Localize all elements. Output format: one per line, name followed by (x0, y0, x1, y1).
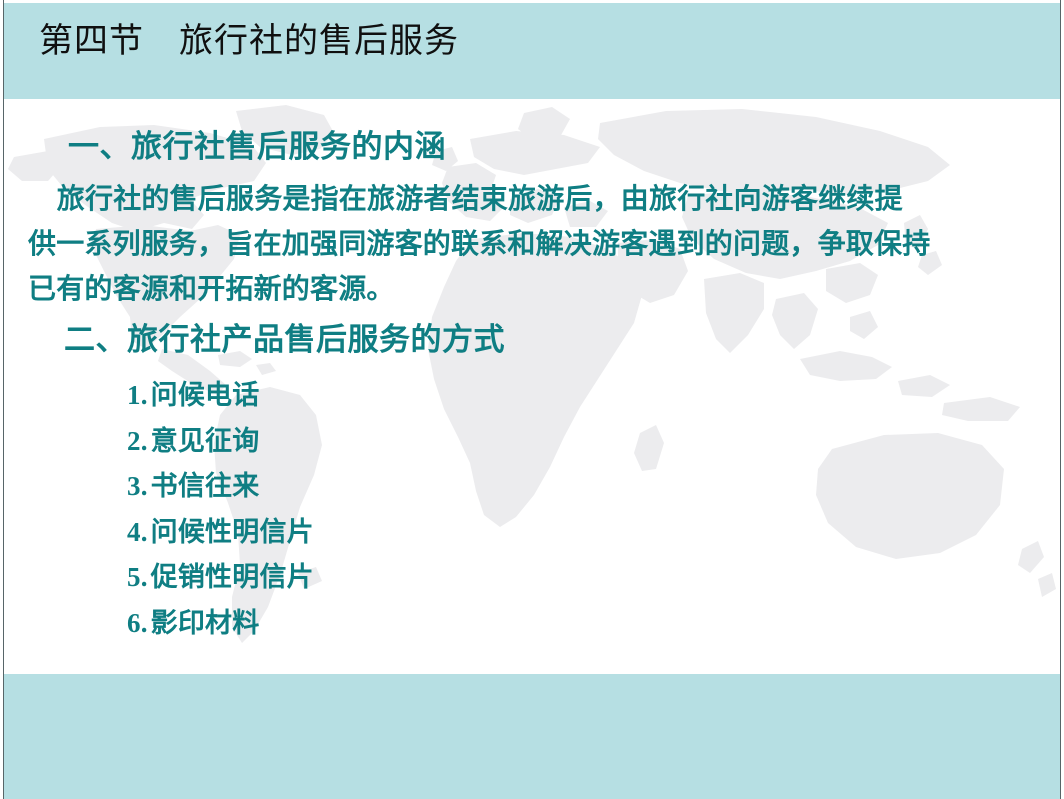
paragraph-line: 旅行社的售后服务是指在旅游者结束旅游后，由旅行社向游客继续提 (28, 177, 1028, 222)
list-item: 1.问候电话 (127, 373, 314, 419)
list-item-label: 影印材料 (151, 608, 260, 638)
list-item-label: 问候电话 (151, 380, 260, 410)
list-item-number: 2. (127, 426, 148, 456)
paragraph-line: 供一系列服务，旨在加强同游客的联系和解决游客遇到的问题，争取保持 (28, 222, 1028, 267)
list-item-label: 问候性明信片 (151, 517, 314, 547)
list-item-label: 书信往来 (151, 471, 260, 501)
slide-content: 一、旅行社售后服务的内涵 旅行社的售后服务是指在旅游者结束旅游后，由旅行社向游客… (4, 99, 1060, 674)
slide-header-band: 第四节 旅行社的售后服务 (4, 3, 1060, 99)
list-item: 3.书信往来 (127, 464, 314, 510)
definition-paragraph: 旅行社的售后服务是指在旅游者结束旅游后，由旅行社向游客继续提 供一系列服务，旨在… (28, 177, 1028, 312)
slide-title: 第四节 旅行社的售后服务 (39, 20, 459, 64)
section-heading-1: 一、旅行社售后服务的内涵 (68, 128, 446, 166)
list-item: 5.促销性明信片 (127, 555, 314, 601)
list-item: 4.问候性明信片 (127, 510, 314, 556)
list-item-number: 5. (127, 562, 148, 592)
slide-body: 一、旅行社售后服务的内涵 旅行社的售后服务是指在旅游者结束旅游后，由旅行社向游客… (4, 99, 1060, 674)
paragraph-line: 已有的客源和开拓新的客源。 (28, 267, 1028, 312)
list-item-number: 6. (127, 608, 148, 638)
slide: 第四节 旅行社的售后服务 (0, 0, 1064, 799)
list-item-number: 3. (127, 471, 148, 501)
list-item: 6.影印材料 (127, 601, 314, 647)
section-heading-2: 二、旅行社产品售后服务的方式 (64, 321, 505, 359)
slide-right-edge-rule (1060, 0, 1061, 799)
list-item-label: 促销性明信片 (151, 562, 314, 592)
list-item: 2.意见征询 (127, 419, 314, 465)
slide-footer-band (4, 674, 1060, 799)
list-item-number: 1. (127, 380, 148, 410)
list-item-label: 意见征询 (151, 426, 260, 456)
methods-list: 1.问候电话 2.意见征询 3.书信往来 4.问候性明信片 5.促销性明信片 6… (127, 373, 314, 646)
list-item-number: 4. (127, 517, 148, 547)
